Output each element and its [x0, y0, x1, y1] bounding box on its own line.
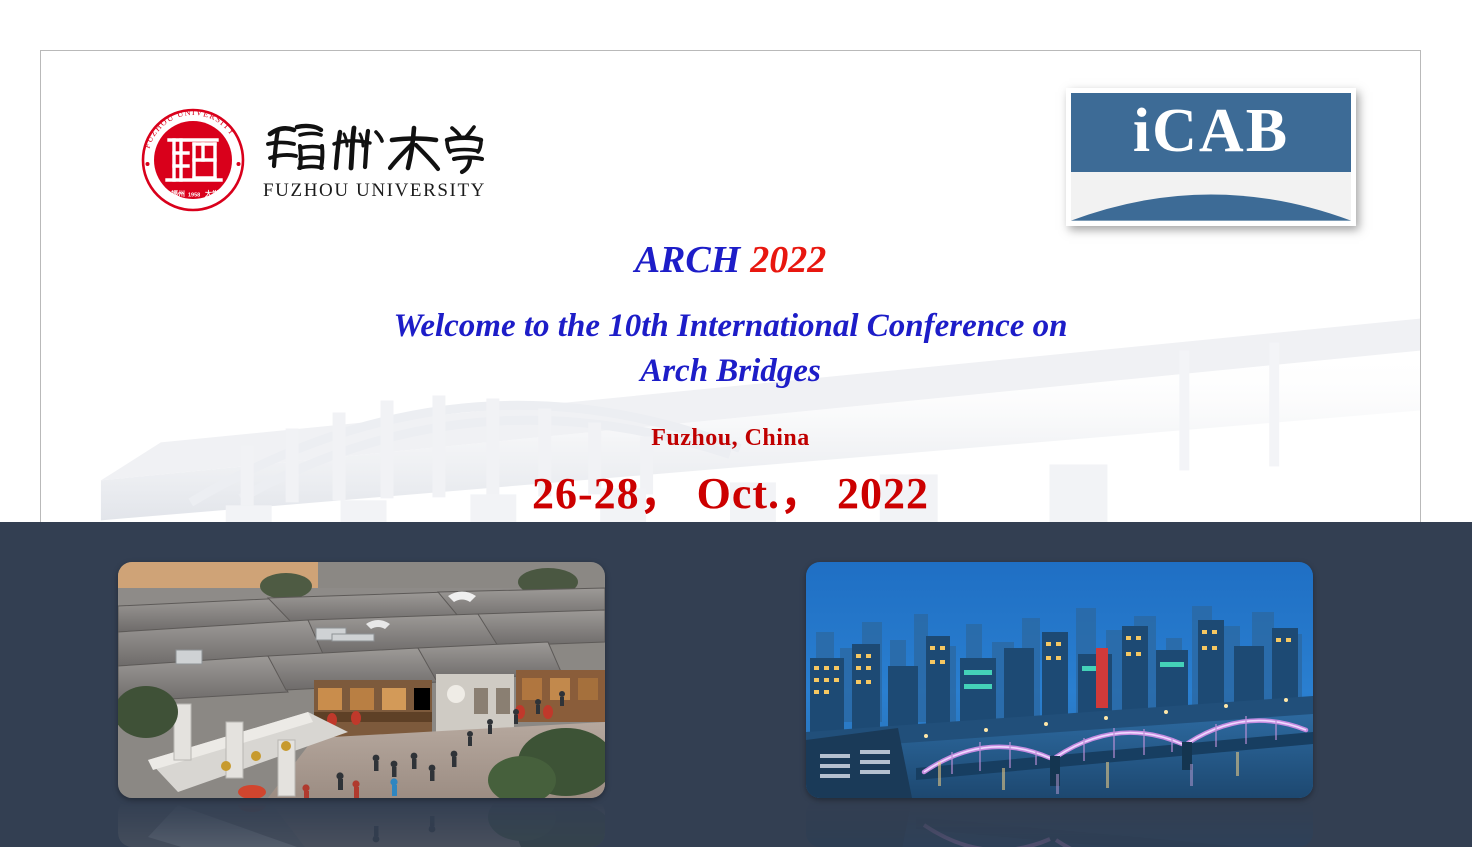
- venue-date: 26-28， Oct.， 2022: [40, 457, 1421, 521]
- icab-bar: iCAB: [1071, 93, 1351, 172]
- photo-fuzhou-night-skyline: [806, 562, 1313, 798]
- svg-text:1958: 1958: [188, 193, 200, 199]
- svg-text:大学: 大学: [205, 189, 219, 198]
- icab-wordmark: iCAB: [1133, 100, 1289, 166]
- icab-arch-icon: [1071, 172, 1351, 221]
- welcome-headline: Welcome to the 10th International Confer…: [40, 304, 1421, 395]
- conference-acronym: ARCH: [635, 239, 741, 281]
- photo-sanfang-qixiang: [118, 562, 605, 798]
- reflection-left-image: [118, 799, 605, 847]
- fuzhou-university-chinese-calligraphy: [264, 118, 486, 176]
- title-block: ARCH2022 Welcome to the 10th Internation…: [40, 240, 1421, 521]
- reflection-right-image: [806, 799, 1313, 847]
- photo-fuzhou-night-skyline-image: [806, 562, 1313, 798]
- fuzhou-university-wordmark: FUZHOU UNIVERSITY: [263, 118, 486, 202]
- slide-canvas: FUZHOU UNIVERSITY 福州: [0, 0, 1472, 847]
- icab-logo: iCAB: [1066, 88, 1356, 226]
- conference-year: 2022: [750, 239, 826, 281]
- venue-city: Fuzhou, China: [40, 425, 1421, 452]
- welcome-headline-line1: Welcome to the 10th International Confer…: [220, 304, 1241, 350]
- conference-acronym-line: ARCH2022: [40, 240, 1421, 282]
- photo-sanfang-qixiang-image: [118, 562, 605, 798]
- fuzhou-university-english-name: FUZHOU UNIVERSITY: [263, 180, 486, 202]
- photo-fuzhou-night-skyline-reflection: [806, 799, 1313, 847]
- fuzhou-university-logo: FUZHOU UNIVERSITY 福州: [141, 108, 486, 212]
- fuzhou-university-seal-icon: FUZHOU UNIVERSITY 福州: [141, 108, 245, 212]
- svg-text:福州: 福州: [170, 189, 185, 198]
- photo-sanfang-qixiang-reflection: [118, 799, 605, 847]
- welcome-headline-line2: Arch Bridges: [220, 349, 1241, 395]
